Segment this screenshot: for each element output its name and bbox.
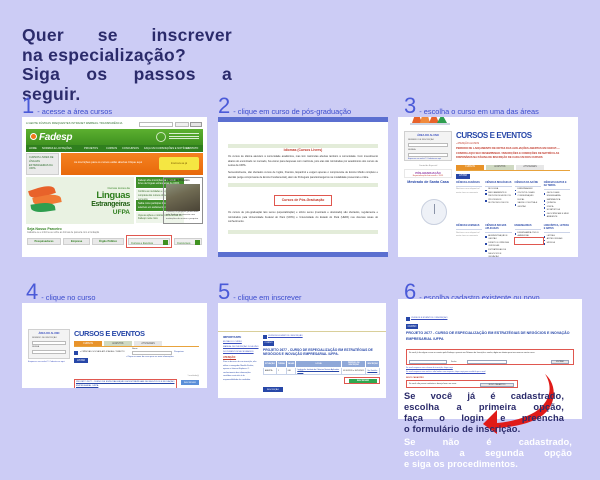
p5-side-link-edital[interactable]: EDITAL DO CURSO — [223, 341, 259, 345]
p3-listar-button[interactable]: LISTAR — [456, 174, 470, 179]
p2-bottom-bar — [218, 252, 388, 257]
p5-course-table: SITUAÇÃO TURMA VAGAS LOCAL PERÍODO DE IN… — [263, 360, 380, 375]
step-label-3: 3- escolha o curso em uma das áreas — [404, 95, 539, 117]
p2-band — [228, 144, 378, 148]
p5-side-title: IMPORTANTE — [223, 335, 259, 339]
p4-search-input[interactable] — [132, 351, 172, 355]
p1-nav-projetos[interactable]: PROJETOS — [84, 147, 98, 150]
p6-novo-cadastro-title: NOVO CADASTRO — [406, 377, 424, 379]
p5-td-periodo: 01/10/2015 a 30/10/2015 — [342, 368, 366, 375]
p3-col-list: ADMINISTRAÇÃO E GESTÃO DIREITO E CIÊNCIA… — [485, 235, 511, 257]
headline-line-1: Quer se inscrever — [22, 26, 232, 46]
p3-col-header: CIÊNCIAS DA SAÚDE — [515, 182, 541, 187]
p3-login-links[interactable]: Esqueceu sua senha? / Cadastre-se aqui — [408, 158, 441, 160]
table-row: ABERTA 1 040 Instituição: Instituto de C… — [264, 368, 380, 375]
p1-left-card-text: CURSOS LIVRES DE LÍNGUAS ESTRANGEIRAS DA… — [29, 156, 58, 171]
p3-col-header: CIÊNCIAS AGRÁRIAS — [456, 182, 482, 187]
p1-hero-line2: Estrangeiras — [91, 201, 130, 208]
fadesp-logo-icon — [30, 133, 37, 140]
p3-col-header: ENGENHARIAS — [515, 225, 541, 230]
p5-th-local: LOCAL — [296, 361, 342, 368]
p5-td-local[interactable]: Instituição: Instituto de Ciências Socia… — [296, 368, 342, 375]
p5-th-situacao: SITUAÇÃO — [264, 361, 277, 368]
p3-col-header: CIÊNCIAS EXATAS E DA TERRA — [544, 182, 570, 190]
p2-top-bar — [218, 117, 388, 122]
p3-col-item[interactable]: PROCESSOS BIOTECNOLÓGICOS — [485, 199, 511, 206]
p6-senha-label: Senha — [451, 361, 456, 363]
arrow-right-icon — [163, 240, 168, 245]
p4-filter-checkbox[interactable] — [74, 351, 78, 355]
p2-heading-idiomas: Idiomas (Cursos Livres) — [218, 148, 388, 152]
p3-col-header: CIÊNCIAS BIOLÓGICAS — [485, 182, 511, 187]
p3-highlight-box — [514, 237, 544, 245]
screenshot-panel-5: IMPORTANTE EDITAL DO CURSO MANUAL DE INS… — [218, 303, 386, 398]
p1-topbar: A GENTE DÚVIDAS FREQUENTES INTRANET WEBM… — [26, 121, 203, 128]
home-icon — [263, 335, 267, 339]
p1-nav-normas[interactable]: NORMAS E LICITAÇÕES — [42, 147, 72, 150]
p3-side-caption: Conteúdo Especial — [404, 165, 452, 167]
p4-side-link[interactable]: Esqueceu sua senha? / Cadastre-se aqui — [28, 361, 70, 364]
p5-side-text: Para o decorrer de sua inscrição, não ut… — [223, 361, 259, 382]
caption-light-line-1: Se não é cadastrado, — [404, 437, 572, 448]
p5-breadcrumb-text[interactable]: CURSOS E EVENTOS / INSCRIÇÃO — [268, 335, 303, 337]
headline-line-3: Siga os passos a — [22, 65, 232, 85]
p1-search-button[interactable] — [190, 122, 202, 127]
p1-nav-concursos[interactable]: CONCURSOS — [122, 147, 139, 150]
p5-inscricao-button[interactable]: INSCRIÇÃO — [263, 387, 283, 392]
p5-th-vagas: VAGAS — [286, 361, 296, 368]
p4-search-label: Nome — [132, 348, 138, 350]
p3-col-item[interactable]: ODONTOLOGIA E CONSERVAÇÃO BUCAL — [515, 192, 541, 203]
p2-band — [228, 230, 378, 234]
p1-partners-section: Seja Nosso Parceiro Cadastre-se e inform… — [26, 227, 203, 253]
step-caption-2: - clique em curso de pós-graduação — [233, 107, 351, 116]
screenshot-panel-1: A GENTE DÚVIDAS FREQUENTES INTRANET WEBM… — [22, 117, 207, 257]
step-label-2: 2- clique em curso de pós-graduação — [218, 95, 351, 117]
p3-ad-posgraduacao[interactable]: PÓS-GRADUAÇÃO Especialização lato sensu … — [404, 169, 452, 178]
p3-subtitle: ▪ ATENÇÃO ALUNOS — [456, 142, 570, 145]
p4-results-label: 1 resultado(s) — [187, 375, 199, 377]
caption-new-user: Se não é cadastrado, escolha a segunda o… — [404, 437, 572, 470]
p4-course-link[interactable]: PROJETO 2677 - CURSO DE ESPECIALIZAÇÃO E… — [76, 381, 175, 388]
p5-td-situacao: ABERTA — [264, 368, 277, 375]
p1-hero-line3: UFPA — [113, 209, 130, 216]
p3-col-item[interactable]: GEOLOGIA E ENGENHARIA — [544, 192, 570, 199]
p5-divider — [218, 331, 386, 332]
step-number-1: 1 — [22, 93, 34, 118]
p1-social-icons[interactable] — [190, 146, 201, 151]
p2-paragraph-1: Os cursos de idioma atendem à comunidade… — [228, 155, 378, 169]
p3-col-item[interactable]: GEOCIÊNCIAS E MEIO AMBIENTE — [544, 213, 570, 220]
p6-inscricao-input[interactable] — [409, 360, 447, 364]
p5-th-inscricao: INSCRIÇÃO — [366, 361, 380, 368]
p6-entrar-button[interactable]: ENTRAR — [551, 360, 569, 364]
p3-col-header: LINGUÍSTICA, LETRAS E ARTES — [544, 225, 570, 233]
p3-col-item[interactable]: ADMINISTRAÇÃO E GESTÃO — [485, 235, 511, 242]
p3-category-column: CIÊNCIAS SOCIAIS APLICADAS ADMINISTRAÇÃO… — [485, 225, 511, 257]
p3-side-ads: Conteúdo Especial PÓS-GRADUAÇÃO Especial… — [404, 165, 452, 184]
home-icon — [406, 317, 410, 321]
p5-tag-curso: CURSO — [263, 341, 274, 346]
p3-login-label-1: NÚMERO DE INSCRIÇÃO — [408, 139, 434, 141]
p4-tab-eventos[interactable]: EVENTOS — [104, 341, 132, 346]
p6-senha-input[interactable] — [467, 360, 507, 364]
p3-category-column: CIÊNCIAS HUMANAS Nenhum curso disponível… — [456, 225, 482, 257]
p1-partners-sub: Cadastre-se e informe-se sobre as formas… — [27, 232, 99, 234]
p1-hero-line1: Linguas — [96, 190, 130, 201]
p1-logo-bar: Fadesp — [26, 129, 203, 145]
p3-col-item[interactable]: DIREITO E CIÊNCIAS JURÍDICAS — [485, 242, 511, 249]
p3-category-column: LINGUÍSTICA, LETRAS E ARTES LETRAS ARTES… — [544, 225, 570, 257]
p1-search-input[interactable] — [139, 122, 173, 127]
p5-side-link-documentos[interactable]: DOCUMENTOS NECESSÁRIOS — [223, 351, 259, 355]
p1-left-card[interactable]: CURSOS LIVRES DE LÍNGUAS ESTRANGEIRAS DA… — [26, 153, 59, 175]
p4-main-content: CURSOS E EVENTOS CURSOS EVENTOS ATIVIDAD… — [74, 329, 199, 363]
screenshot-panel-3: ÁREA DO ALUNO NÚMERO DE INSCRIÇÃO SENHA … — [398, 117, 578, 257]
p1-cursos-eventos-button[interactable]: Cursos e Eventos — [128, 238, 170, 245]
p3-clock-graphic — [410, 193, 452, 229]
p4-student-login-box[interactable]: ÁREA DO ALUNO NÚMERO DE INSCRIÇÃO SENHA — [28, 329, 70, 359]
p1-navbar[interactable]: HOME NORMAS E LICITAÇÕES PROJETOS CURSOS… — [26, 145, 203, 152]
p3-notice-text: PERIODO DE LANÇAMENTO DE NOTAS DAS AVALI… — [456, 147, 570, 161]
p6-breadcrumb-text[interactable]: CURSOS E EVENTOS / INSCRIÇÃO — [411, 317, 447, 319]
p1-nav-cursos[interactable]: CURSOS — [106, 147, 117, 150]
step-number-3: 3 — [404, 93, 416, 118]
p5-main-content: CURSOS E EVENTOS / INSCRIÇÃO CURSO PROJE… — [263, 335, 380, 385]
p3-col-list: LETRAS ARTES VISUAIS MÚSICA — [544, 235, 570, 246]
p5-td-turma: 1 — [276, 368, 286, 375]
p4-footer-note: ▪ Clique no nome do curso para ver mais … — [126, 356, 191, 358]
step-caption-3: - escolha o curso em uma das áreas — [419, 107, 539, 116]
p4-tabs[interactable]: CURSOS EVENTOS ATIVIDADES — [74, 341, 199, 347]
caption-dark-line-1: Se você já é cadastrado, — [404, 391, 564, 402]
p4-listar-button[interactable]: LISTAR — [74, 358, 88, 363]
p3-tab-eventos[interactable]: EVENTOS — [486, 165, 514, 170]
p3-category-column: CIÊNCIAS DA SAÚDE ENFERMAGEM ODONTOLOGIA… — [515, 182, 541, 220]
p1-projects-caption: Conheça os projetos gerenciados pela Fad… — [166, 211, 200, 221]
p3-col-item-highlighted[interactable]: ESTRATÉGIAS DE NEGÓCIOS E INOVAÇÃO EMPRE… — [485, 249, 511, 257]
p3-login-input-1[interactable] — [408, 143, 448, 147]
p6-forgot-inscricao-link[interactable]: Se você esqueceu seu número de inscrição… — [406, 367, 453, 369]
p3-tab-cursos[interactable]: CURSOS — [456, 165, 484, 170]
p3-col-item[interactable]: MEIO AMBIENTE E RECURSOS HÍDRICOS — [485, 192, 511, 199]
p3-category-row-2: CIÊNCIAS HUMANAS Nenhum curso disponível… — [456, 225, 570, 257]
step-label-5: 5- clique em inscrever — [218, 281, 301, 303]
p3-ad1-sub: Especialização lato sensu • 2015 — [405, 175, 451, 177]
p4-filter-label: ▪ CIÊNCIAS SOCIAIS APLICADAS / DIREITO — [80, 351, 125, 353]
p1-partner-logo — [156, 132, 200, 142]
p5-th-turma: TURMA — [276, 361, 286, 368]
p3-col-list: GEOLOGIA E ENGENHARIA MATEMÁTICA QUÍMICA… — [544, 192, 570, 220]
headline-line-2: na especialização? — [22, 46, 232, 66]
p1-search-select[interactable] — [175, 122, 189, 127]
p3-category-column: CIÊNCIAS BIOLÓGICAS BIOLOGIA MEIO AMBIEN… — [485, 182, 511, 220]
p1-partners-title: Seja Nosso Parceiro — [27, 227, 62, 231]
caption-dark-line-4: o formulário de inscrição. — [404, 424, 564, 435]
caption-registered-user: Se você já é cadastrado, escolha a prime… — [404, 391, 564, 436]
step-number-2: 2 — [218, 93, 230, 118]
p1-nav-faca-curso[interactable]: FAÇA UM CURSO — [144, 147, 165, 150]
page-title: Quer se inscrever na especialização? Sig… — [22, 26, 232, 104]
caption-light-line-2: escolha a segunda opção — [404, 448, 572, 459]
p3-col-header: CIÊNCIAS HUMANAS — [456, 225, 482, 230]
caption-light-line-3: e siga os procedimentos. — [404, 459, 572, 470]
p4-login-label-2: SENHA — [32, 346, 39, 348]
p1-banner-text: As inscrições para os cursos estão abert… — [61, 160, 155, 165]
p1-projects-box[interactable]: Banco de Projetos Conheça os projetos ge… — [163, 177, 203, 224]
p3-category-column: CIÊNCIAS EXATAS E DA TERRA GEOLOGIA E EN… — [544, 182, 570, 220]
p1-projects-image — [166, 184, 200, 211]
p5-breadcrumb[interactable]: CURSOS E EVENTOS / INSCRIÇÃO — [263, 335, 380, 339]
p6-forgot-senha-link[interactable]: Se você esqueceu sua senha e não lembra … — [406, 371, 485, 373]
p4-page-title: CURSOS E EVENTOS — [74, 329, 199, 338]
p3-mountain-graphic — [410, 117, 450, 125]
p3-col-note: Nenhum curso disponível nesta área no mo… — [456, 188, 482, 195]
p6-option1-text: Se você já fez algum curso ou evento pel… — [409, 352, 571, 355]
p3-col-item[interactable]: SAÚDE COLETIVA E GESTÃO — [515, 202, 541, 209]
p1-concursos-label: Concursos — [177, 241, 190, 245]
p3-main-content: CURSOS E EVENTOS ▪ ATENÇÃO ALUNOS PERIOD… — [456, 131, 570, 257]
p2-heading-pos-graduacao[interactable]: Cursos de Pós-Graduação — [218, 198, 388, 202]
p2-band — [228, 183, 378, 187]
p3-col-header: CIÊNCIAS SOCIAIS APLICADAS — [485, 225, 511, 233]
p1-hero-banner[interactable]: Cursos Livres de Linguas Estrangeiras UF… — [26, 177, 134, 224]
p5-td-vagas: 040 — [286, 368, 296, 375]
step-caption-4: - clique no curso — [41, 293, 95, 302]
screenshot-panel-2: Idiomas (Cursos Livres) Os cursos de idi… — [218, 117, 388, 257]
p4-login-input-1[interactable] — [32, 341, 66, 345]
p1-partner-empresa[interactable]: Empresa — [63, 238, 90, 245]
partner-bars-icon — [169, 133, 199, 141]
p5-side-link-manual[interactable]: MANUAL DE INSCRIÇÃO DO ALUNO — [223, 346, 259, 350]
p3-col-note: Nenhum curso disponível nesta área no mo… — [456, 232, 482, 239]
p5-sidebar: IMPORTANTE EDITAL DO CURSO MANUAL DE INS… — [223, 335, 259, 382]
p5-table-header-row: SITUAÇÃO TURMA VAGAS LOCAL PERÍODO DE IN… — [264, 361, 380, 368]
p1-banner-badge[interactable]: Inscreva-se já — [159, 157, 199, 170]
step-caption-5: - clique em inscrever — [233, 293, 301, 302]
step-number-4: 4 — [26, 279, 38, 304]
mountain-base — [410, 123, 450, 125]
step-number-5: 5 — [218, 279, 230, 304]
p4-login-label-1: NÚMERO DE INSCRIÇÃO — [32, 337, 57, 339]
p3-page-title: CURSOS E EVENTOS — [456, 131, 570, 140]
p3-login-label-2: SENHA — [408, 149, 416, 151]
p6-option2-text: Se você não possui cadastro e deseja faz… — [409, 383, 457, 385]
p4-login-title: ÁREA DO ALUNO — [29, 332, 69, 335]
p1-partner-orgao-publico[interactable]: Órgão Público — [92, 238, 124, 245]
p2-paragraph-3: Os cursos de pós-graduação lato sensu (e… — [228, 211, 378, 225]
step-label-4: 4- clique no curso — [26, 281, 95, 303]
step-caption-1: - acesse a área cursos — [37, 107, 112, 116]
p6-existing-account-box: Se você já fez algum curso ou evento pel… — [406, 349, 574, 365]
step-label-1: 1- acesse a área cursos — [22, 95, 112, 117]
p5-inscrever-button[interactable]: INSCREVER — [349, 379, 377, 384]
p3-tabs[interactable]: CURSOS EVENTOS ATIVIDADES — [456, 165, 570, 171]
p1-toplinks: A GENTE DÚVIDAS FREQUENTES INTRANET WEBM… — [26, 122, 122, 125]
p3-col-item[interactable]: MÚSICA — [544, 242, 570, 246]
caption-dark-line-3: faça o login e preencha — [404, 413, 564, 424]
p5-project-title: PROJETO 2677 - CURSO DE ESPECIALIZAÇÃO E… — [263, 348, 380, 358]
p3-col-list: BIOLOGIA MEIO AMBIENTE E RECURSOS HÍDRIC… — [485, 188, 511, 206]
p1-partner-pesquisadores[interactable]: Pesquisadores — [27, 238, 61, 245]
p4-tab-atividades[interactable]: ATIVIDADES — [134, 341, 162, 346]
bird-logo-icon — [29, 183, 67, 217]
p3-student-login-box[interactable]: ÁREA DO ALUNO NÚMERO DE INSCRIÇÃO SENHA … — [404, 131, 452, 161]
p5-th-periodo: PERÍODO DE INSCRIÇÃO — [342, 361, 366, 368]
p3-tab-atividades[interactable]: ATIVIDADES — [516, 165, 544, 170]
p3-login-input-2[interactable] — [408, 153, 448, 157]
clock-icon — [421, 199, 447, 225]
p1-projects-title: Banco de Projetos — [166, 179, 190, 182]
p6-tag-curso: CURSO — [406, 324, 418, 329]
p3-category-row-1: CIÊNCIAS AGRÁRIAS Nenhum curso disponíve… — [456, 182, 570, 220]
p1-banner[interactable]: As inscrições para os cursos estão abert… — [61, 153, 203, 175]
p4-search-button[interactable]: Pesquisar — [174, 351, 184, 353]
p1-cursos-eventos-label: Cursos e Eventos — [131, 241, 153, 245]
p3-login-title: ÁREA DO ALUNO — [405, 134, 451, 137]
p3-category-column: CIÊNCIAS AGRÁRIAS Nenhum curso disponíve… — [456, 182, 482, 220]
p5-button-row: INSCREVER — [263, 377, 380, 385]
p3-ad-mestrado[interactable]: Mestrado de Santa Casa — [404, 180, 452, 184]
p1-banner-badge-text: Inscreva-se já — [159, 157, 199, 170]
p1-nav-home[interactable]: HOME — [29, 147, 37, 150]
p4-login-input-2[interactable] — [32, 350, 66, 354]
p1-concursos-button[interactable]: Concursos — [174, 238, 202, 245]
p4-tab-cursos[interactable]: CURSOS — [74, 341, 102, 346]
clock-label — [410, 195, 411, 197]
poster-root: Quer se inscrever na especialização? Sig… — [0, 0, 600, 480]
p2-paragraph-2: Semestralmente, são ofertados cursos de … — [228, 171, 378, 180]
partner-circle-icon — [156, 132, 166, 142]
p4-inscrever-button[interactable]: INSCREVER — [181, 380, 199, 385]
arrow-right-icon — [195, 240, 200, 245]
p5-td-inscricao[interactable]: Ver Detalhe — [366, 368, 380, 375]
screenshot-panel-4: ÁREA DO ALUNO NÚMERO DE INSCRIÇÃO SENHA … — [22, 303, 207, 388]
caption-dark-line-2: escolha a primeira opção, — [404, 402, 564, 413]
p6-project-title: PROJETO 2677 - CURSO DE ESPECIALIZAÇÃO E… — [406, 331, 574, 342]
p5-side-attention: ATENÇÃO: — [223, 356, 259, 359]
p1-logo-text: Fadesp — [39, 132, 72, 143]
p3-col-list: ENFERMAGEM ODONTOLOGIA E CONSERVAÇÃO BUC… — [515, 188, 541, 209]
